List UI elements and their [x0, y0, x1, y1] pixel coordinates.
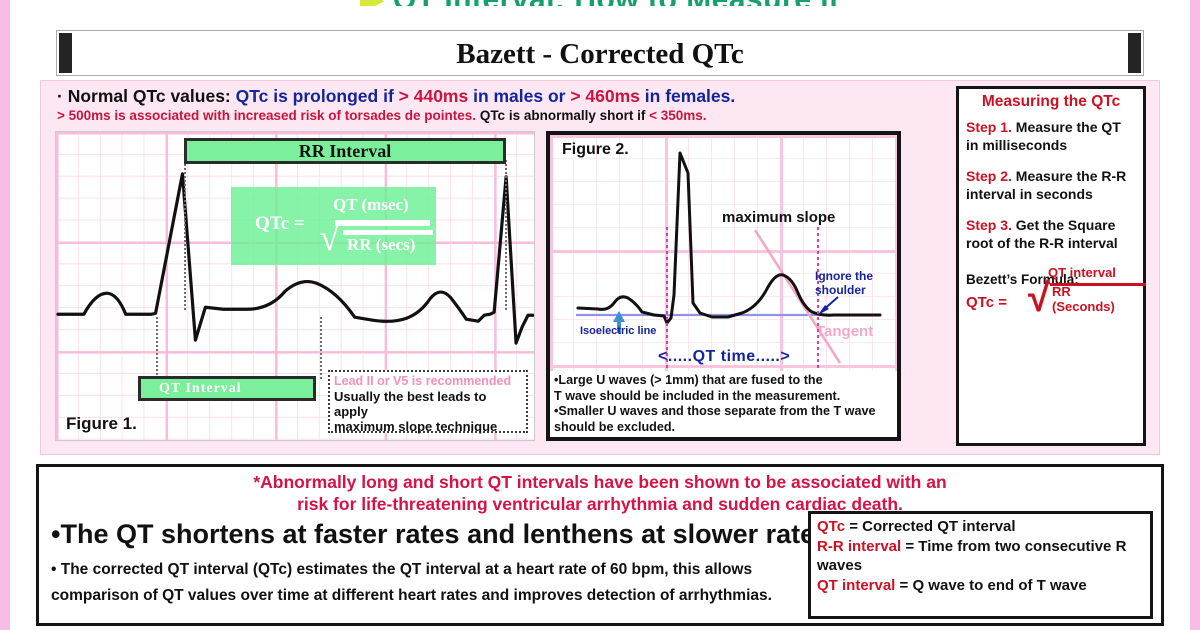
infographic-page: ▶ QT Interval: How to Measure it Bazett … — [0, 0, 1200, 630]
normal-values-line-1: · Normal QTc values: QTc is prolonged if… — [57, 86, 735, 107]
lead-note-line2: maximum slope technique — [334, 419, 522, 434]
measuring-steps-panel: Measuring the QTc Step 1. Measure the QT… — [956, 86, 1146, 446]
alert-line-1: *Abnormally long and short QT intervals … — [39, 471, 1161, 493]
figure-2-plot: Figure 2. maximum slope Ignore the shoul… — [550, 135, 897, 373]
step-number: Step 2. — [966, 168, 1012, 184]
short-threshold: < 350ms. — [649, 108, 706, 123]
bottom-section: *Abnormally long and short QT intervals … — [36, 464, 1164, 626]
formula-numerator: QT (msec) — [333, 195, 409, 215]
bazett-formula: Bezett’s Formula: QTc = QT interval √ RR… — [966, 266, 1136, 328]
qtc-formula-box: QTc = QT (msec) √ RR (secs) — [231, 187, 436, 265]
figure-1: RR Interval QT Interval QTc = QT (msec) … — [55, 131, 535, 441]
females-text: in females. — [640, 86, 735, 106]
qt-interval-bar: QT Interval — [138, 376, 316, 401]
bazett-denominator-2: (Seconds) — [1052, 299, 1115, 314]
alert-banner: *Abnormally long and short QT intervals … — [39, 471, 1161, 515]
max-slope-label: maximum slope — [722, 209, 835, 226]
prolonged-text: QTc is prolonged if — [236, 86, 399, 106]
top-banner: ▶ QT Interval: How to Measure it — [0, 0, 1200, 6]
qt-marker-right — [320, 317, 322, 379]
steps-panel-title: Measuring the QTc — [966, 93, 1136, 111]
male-threshold: > 440ms — [399, 86, 469, 106]
legend-sep: = — [895, 577, 912, 594]
legend-sep: = — [845, 518, 862, 535]
right-pink-edge — [1190, 0, 1200, 630]
ignore-shoulder-label: Ignore the shoulder — [815, 269, 873, 297]
main-panel: · Normal QTc values: QTc is prolonged if… — [40, 80, 1160, 455]
figure-1-label: Figure 1. — [66, 414, 137, 434]
step-number: Step 1. — [966, 119, 1012, 135]
primary-bullet: •The QT shortens at faster rates and len… — [51, 519, 830, 550]
step-item: Step 3. Get the Square root of the R-R i… — [966, 217, 1136, 252]
bazett-formula-lhs: QTc = — [966, 294, 1007, 311]
lead-recommendation-note: Lead II or V5 is recommended Usually the… — [328, 370, 528, 433]
ignore-shoulder-line2: shoulder — [815, 283, 866, 297]
figure-2-footnote: •Large U waves (> 1mm) that are fused to… — [550, 371, 897, 437]
short-qtc-text: QTc is abnormally short if — [476, 108, 649, 123]
males-text: in males or — [468, 86, 570, 106]
rr-marker-left — [184, 160, 186, 310]
formula-denominator: RR (secs) — [347, 235, 415, 255]
definitions-legend: QTc = Corrected QT interval R-R interval… — [808, 511, 1153, 619]
step-item: Step 2. Measure the R-R interval in seco… — [966, 168, 1136, 203]
footnote-line-1: •Large U waves (> 1mm) that are fused to… — [554, 373, 893, 389]
footnote-line-2: T wave should be included in the measure… — [554, 389, 893, 405]
torsades-risk-text: > 500ms is associated with increased ris… — [57, 108, 476, 123]
step-item: Step 1. Measure the QT in milliseconds — [966, 119, 1136, 154]
tangent-label: Tangent — [816, 323, 873, 340]
isoelectric-label: Isoelectric line — [580, 325, 656, 337]
bazett-denominator-1: RR — [1052, 284, 1071, 299]
formula-lhs: QTc = — [255, 213, 305, 235]
lead-note-line1: Usually the best leads to apply — [334, 389, 522, 419]
legend-item: QTc = Corrected QT interval — [817, 517, 1144, 537]
female-threshold: > 460ms — [570, 86, 640, 106]
normal-values-label: · Normal QTc values: — [57, 86, 236, 106]
footnote-line-4: should be excluded. — [554, 420, 893, 436]
normal-values-line-2: > 500ms is associated with increased ris… — [57, 108, 707, 123]
legend-item: QT interval = Q wave to end of T wave — [817, 576, 1144, 596]
legend-value: Corrected QT interval — [862, 518, 1015, 535]
formula-radical-icon: √ — [319, 219, 340, 257]
legend-key: R-R interval — [817, 538, 901, 555]
qt-marker-left — [156, 317, 158, 379]
legend-item: R-R interval = Time from two consecutive… — [817, 537, 1144, 576]
legend-value: Q wave to end of T wave — [912, 577, 1086, 594]
figure-2-label: Figure 2. — [562, 141, 629, 159]
step-number: Step 3. — [966, 217, 1012, 233]
rr-marker-right — [505, 160, 507, 310]
figure-2: Figure 2. maximum slope Ignore the shoul… — [546, 131, 901, 441]
rr-interval-bar: RR Interval — [184, 138, 506, 164]
left-pink-edge — [0, 0, 10, 630]
lead-note-pink: Lead II or V5 is recommended — [334, 374, 522, 389]
ignore-shoulder-line1: Ignore the — [815, 269, 873, 283]
top-banner-text: QT Interval: How to Measure it — [393, 0, 840, 6]
formula-fraction-rule — [335, 220, 430, 226]
secondary-bullet: • The corrected QT interval (QTc) estima… — [51, 557, 791, 609]
title-bar: Bazett - Corrected QTc — [56, 30, 1144, 76]
legend-key: QTc — [817, 518, 845, 535]
footnote-line-3: •Smaller U waves and those separate from… — [554, 404, 893, 420]
green-flag-icon: ▶ — [360, 0, 384, 6]
qt-time-label: <.....QT time.....> — [658, 348, 790, 366]
bazett-radical-icon: √ — [1028, 278, 1050, 318]
legend-sep: = — [901, 538, 918, 555]
bazett-numerator: QT interval — [1048, 265, 1116, 280]
legend-key: QT interval — [817, 577, 895, 594]
page-title: Bazett - Corrected QTc — [57, 33, 1143, 75]
